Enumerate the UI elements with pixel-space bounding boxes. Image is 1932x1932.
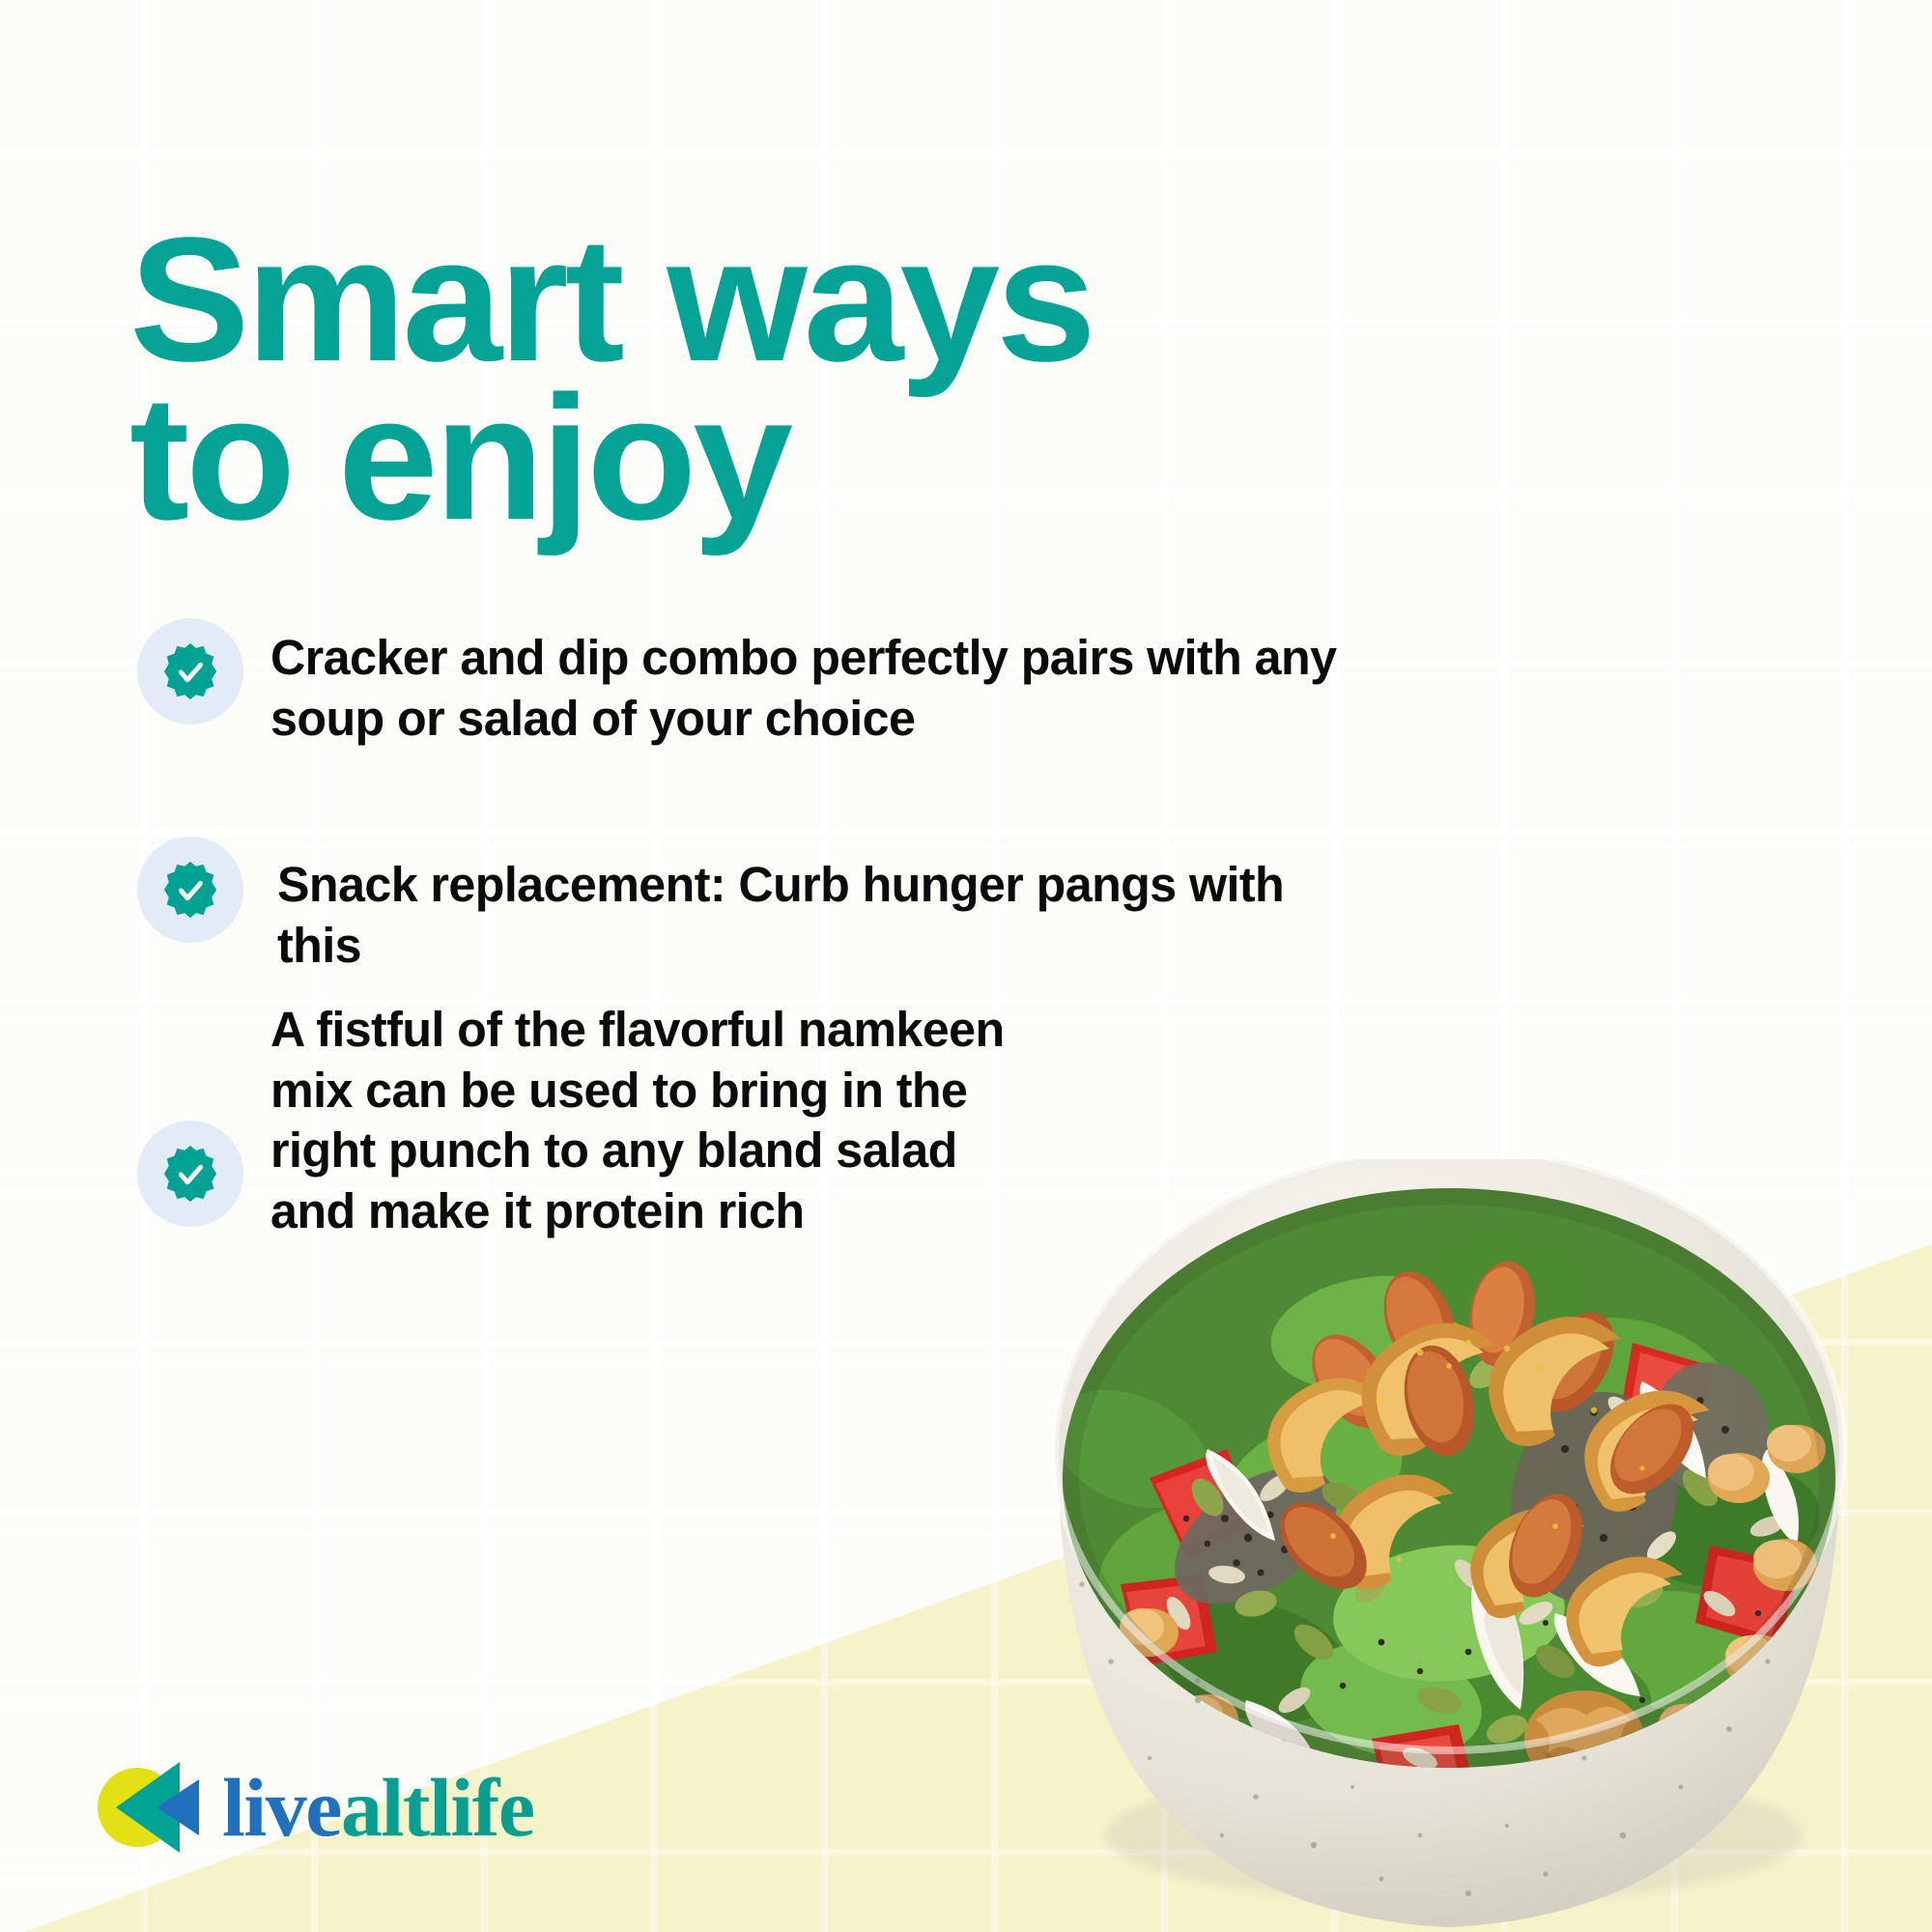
- page-title: Smart ways to enjoy: [129, 220, 1093, 538]
- list-item-label: Cracker and dip combo perfectly pairs wi…: [270, 618, 1336, 749]
- brand-word-altlife: altlife: [341, 1761, 534, 1854]
- brand-wordmark: livealtlife: [222, 1766, 534, 1849]
- salad-bowl-photo: [966, 1159, 1932, 1932]
- brand-word-live: live: [222, 1761, 341, 1854]
- list-item: Cracker and dip combo perfectly pairs wi…: [137, 618, 1352, 749]
- list-item-label: Snack replacement: Curb hunger pangs wit…: [277, 834, 1355, 976]
- list-item: A fistful of the flavorful namkeen mix c…: [137, 1000, 1015, 1242]
- verified-check-badge-icon: [137, 1121, 243, 1227]
- list-item: Snack replacement: Curb hunger pangs wit…: [137, 834, 1372, 976]
- verified-check-badge-icon: [137, 837, 243, 943]
- livealtlife-arrow-logo-mark: [97, 1758, 201, 1857]
- list-item-label: A fistful of the flavorful namkeen mix c…: [270, 1000, 1005, 1242]
- poster-canvas: Smart ways to enjoy: [0, 0, 1932, 1932]
- verified-check-badge-icon: [137, 618, 243, 724]
- brand-logo[interactable]: livealtlife: [97, 1758, 534, 1857]
